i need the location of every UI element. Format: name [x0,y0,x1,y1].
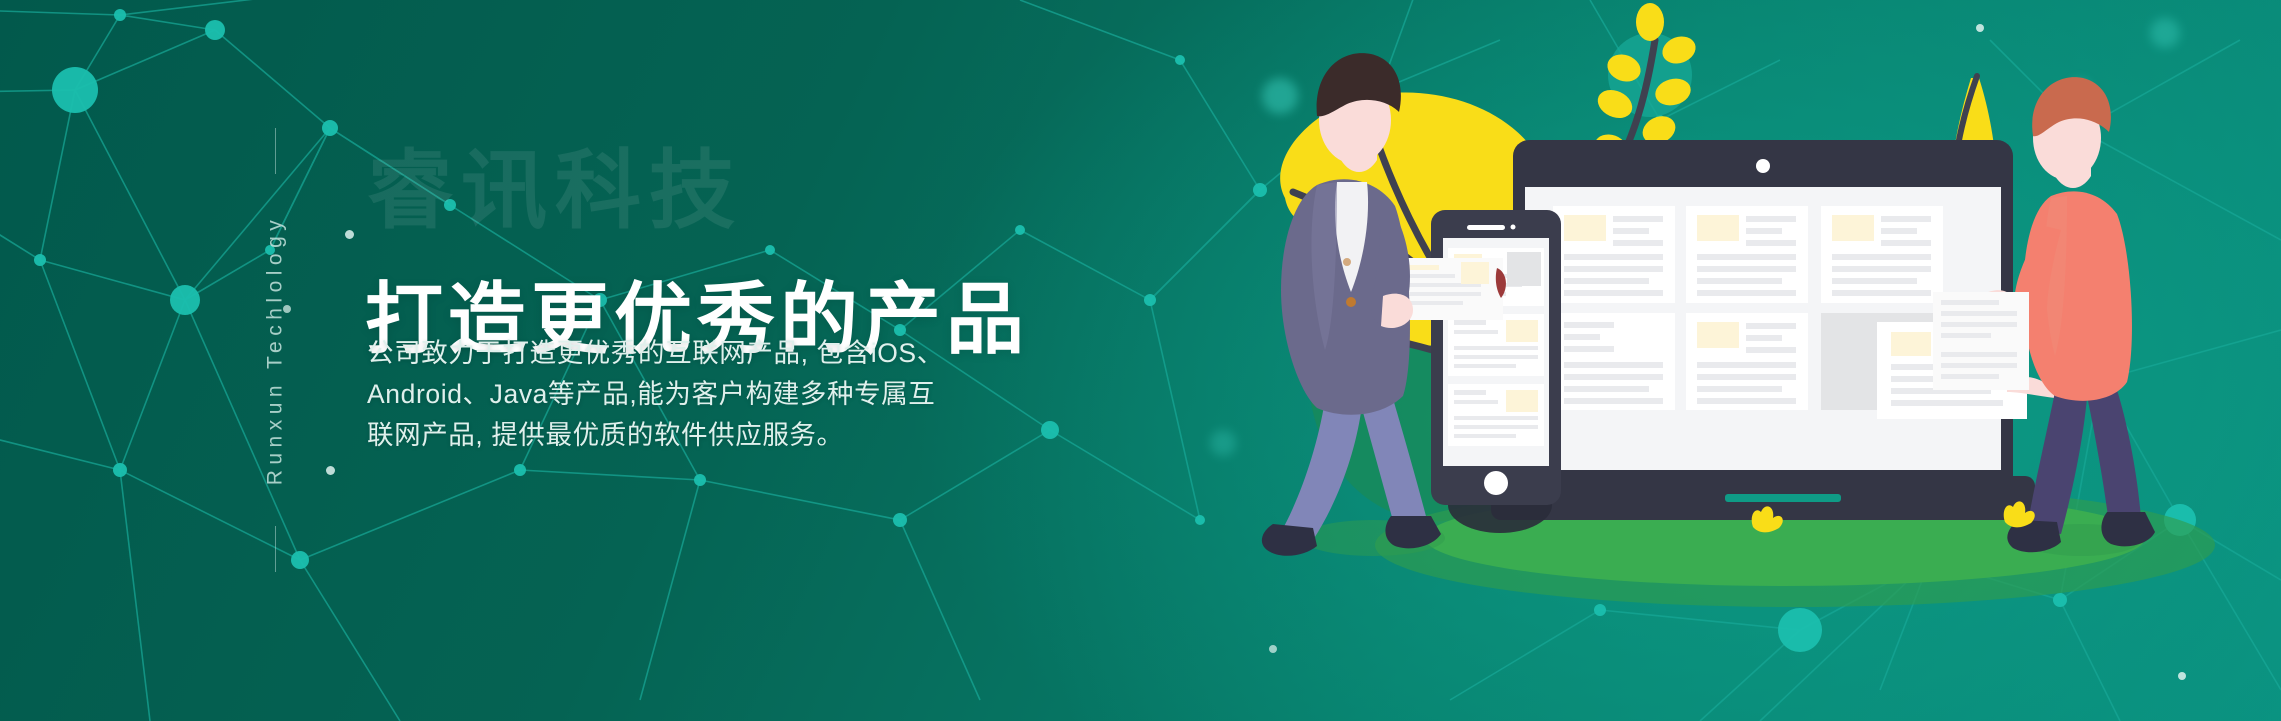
tablet-card [1448,384,1544,446]
description-line: 联网产品, 提供最优质的软件供应服务。 [367,415,1167,456]
laptop-card [1686,313,1808,410]
white-speck [326,466,335,475]
description-line: Android、Java等产品,能为客户构建多种专属互 [367,374,1167,415]
laptop-card [1686,206,1808,303]
hero-illustration [1255,0,2281,721]
hero-banner: Runxun Techlology 睿讯科技 打造更优秀的产品 公司致力于打造更… [0,0,2281,721]
brand-divider-top [275,128,276,174]
vertical-brand-label: Runxun Techlology [263,215,287,486]
description-line: 公司致力于打造更优秀的互联网产品, 包含iOS、 [367,333,1167,374]
page-description: 公司致力于打造更优秀的互联网产品, 包含iOS、 Android、Java等产品… [367,333,1167,456]
white-speck [345,230,354,239]
bokeh-dot [1210,430,1236,456]
held-document-right [1933,292,2029,390]
laptop-card [1553,206,1675,303]
tablet-device [1431,210,1561,505]
vertical-brand: Runxun Techlology [252,150,298,550]
brand-divider-bottom [275,526,276,572]
laptop-card [1821,206,1943,303]
laptop-card [1553,313,1675,410]
laptop-camera-icon [1756,159,1770,173]
tablet-card [1448,314,1544,376]
watermark-text: 睿讯科技 [367,120,743,245]
tablet-home-button [1484,471,1508,495]
